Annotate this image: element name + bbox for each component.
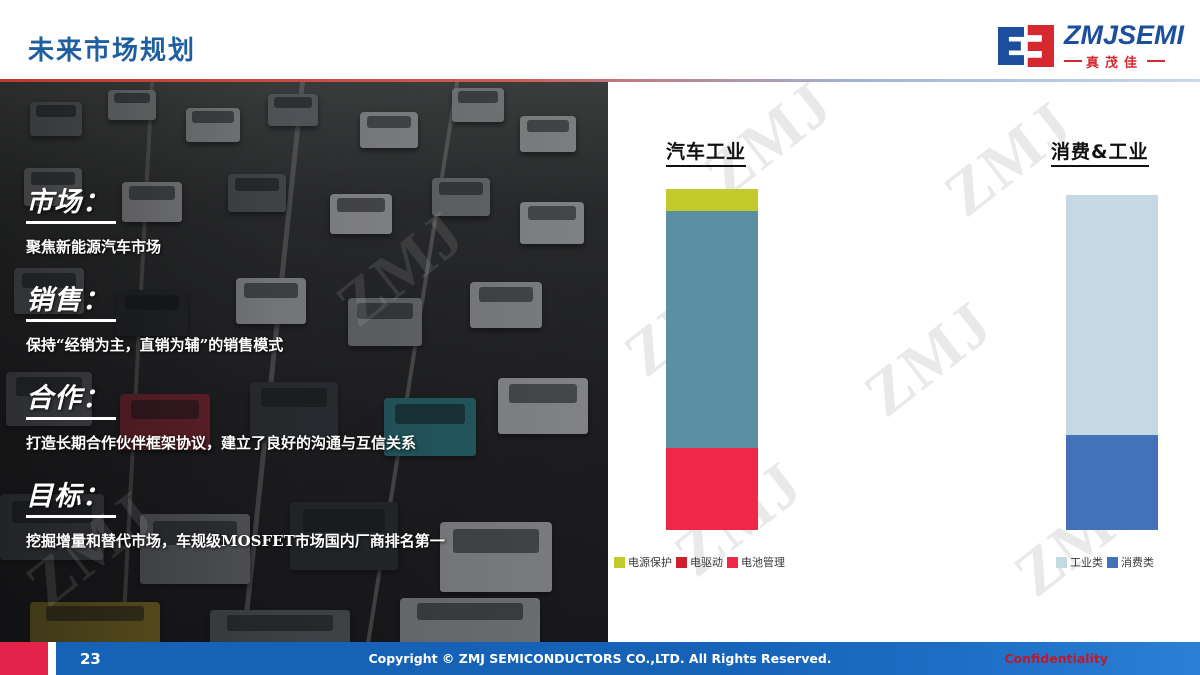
bar-segment-industrial[interactable] (1066, 195, 1158, 435)
content-heading: 目标： (26, 474, 116, 518)
logo-chinese-name: 真茂佳 (1086, 52, 1143, 71)
legend-swatch-icon (1107, 557, 1118, 568)
chart-title-consumer-industrial: 消费&工业 (1051, 137, 1149, 167)
logo-subtitle: 真茂佳 (1064, 52, 1184, 71)
logo-text: ZMJSEMI 真茂佳 (1064, 22, 1184, 71)
bar-segment-power-protection[interactable] (666, 189, 758, 211)
logo-wordmark: ZMJSEMI (1064, 22, 1184, 49)
legend-label: 电池管理 (741, 554, 785, 570)
photo-overlay-scrim (0, 82, 608, 642)
content-body: 保持“经销为主，直销为辅”的销售模式 (26, 334, 283, 355)
watermark: ZMJ (850, 286, 1007, 431)
bar-segment-battery[interactable] (666, 448, 758, 530)
legend-label: 消费类 (1121, 554, 1154, 570)
legend-automotive: 电源保护 电驱动 电池管理 (614, 554, 785, 570)
legend-item-industrial[interactable]: 工业类 (1056, 554, 1103, 570)
bar-segment-drive[interactable] (666, 211, 758, 448)
legend-label: 电驱动 (690, 554, 723, 570)
legend-label: 工业类 (1070, 554, 1103, 570)
legend-consumer-industrial: 工业类 消费类 (1056, 554, 1154, 570)
logo-mark-icon (998, 25, 1054, 67)
content-block-sales: 销售： 保持“经销为主，直销为辅”的销售模式 (26, 278, 283, 355)
logo-e-red-icon (1022, 25, 1054, 67)
content-block-market: 市场： 聚焦新能源汽车市场 (26, 180, 161, 257)
legend-item-power-protection[interactable]: 电源保护 (614, 554, 672, 570)
confidentiality-label: Confidentiality (1004, 651, 1108, 666)
stacked-bar-automotive[interactable] (666, 189, 758, 530)
content-body: 聚焦新能源汽车市场 (26, 236, 161, 257)
legend-swatch-icon (727, 557, 738, 568)
chart-title-automotive: 汽车工业 (666, 137, 746, 167)
traffic-photo-panel: ZMJ ZMJ 市场： 聚焦新能源汽车市场 销售： 保持“经销为主，直销为辅”的… (0, 82, 608, 642)
slide-header: 未来市场规划 ZMJSEMI 真茂佳 (0, 0, 1200, 82)
legend-swatch-icon (614, 557, 625, 568)
legend-item-consumer[interactable]: 消费类 (1107, 554, 1154, 570)
content-heading: 合作： (26, 376, 116, 420)
content-block-goal: 目标： 挖掘增量和替代市场，车规级MOSFET市场国内厂商排名第一 (26, 474, 445, 551)
legend-item-battery[interactable]: 电池管理 (727, 554, 785, 570)
slide: 未来市场规划 ZMJSEMI 真茂佳 (0, 0, 1200, 675)
content-block-cooperation: 合作： 打造长期合作伙伴框架协议，建立了良好的沟通与互信关系 (26, 376, 416, 453)
charts-panel: ZMJ ZMJ ZMJ ZMJ ZMJ ZMJ 汽车工业 电源保护 电驱动 电池… (608, 82, 1200, 642)
company-logo: ZMJSEMI 真茂佳 (998, 22, 1184, 70)
content-heading: 销售： (26, 278, 116, 322)
slide-footer: 23 Copyright © ZMJ SEMICONDUCTORS CO.,LT… (0, 642, 1200, 675)
legend-item-drive[interactable]: 电驱动 (676, 554, 723, 570)
legend-label: 电源保护 (628, 554, 672, 570)
content-body: 打造长期合作伙伴框架协议，建立了良好的沟通与互信关系 (26, 432, 416, 453)
logo-dash-left-icon (1064, 60, 1082, 62)
content-heading: 市场： (26, 180, 116, 224)
logo-e-blue-icon (998, 27, 1024, 65)
content-body: 挖掘增量和替代市场，车规级MOSFET市场国内厂商排名第一 (26, 530, 445, 551)
legend-swatch-icon (676, 557, 687, 568)
bar-segment-consumer[interactable] (1066, 435, 1158, 530)
legend-swatch-icon (1056, 557, 1067, 568)
logo-dash-right-icon (1147, 60, 1165, 62)
stacked-bar-consumer-industrial[interactable] (1066, 195, 1158, 530)
photo-background (0, 82, 608, 642)
page-title: 未来市场规划 (28, 30, 196, 67)
